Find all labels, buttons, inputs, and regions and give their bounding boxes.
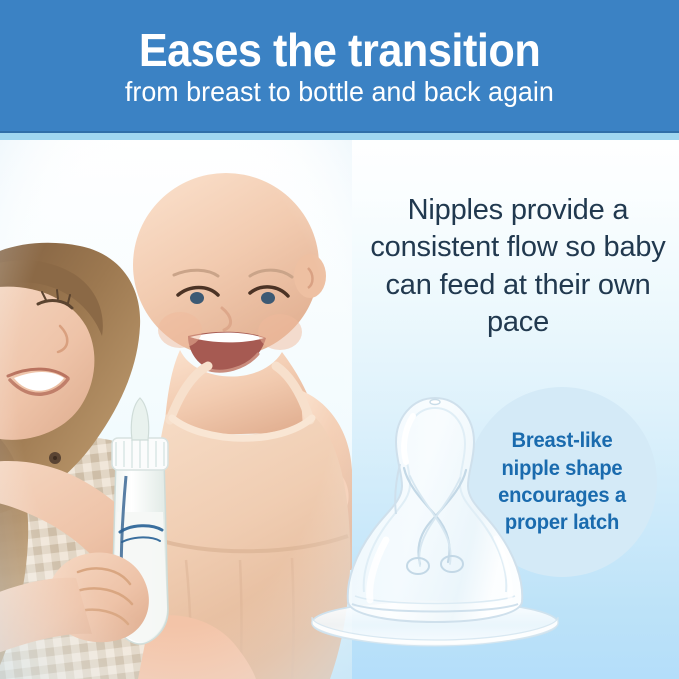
nipple-body — [348, 398, 523, 622]
header-banner: Eases the transition from breast to bott… — [0, 0, 679, 133]
nipple-illustration — [300, 390, 570, 655]
body-copy: Nipples provide a consistent flow so bab… — [362, 192, 674, 342]
banner-text-group: Eases the transition from breast to bott… — [0, 0, 679, 133]
banner-accent-strip — [0, 133, 679, 140]
product-nipple — [300, 390, 570, 655]
subheadline: from breast to bottle and back again — [125, 78, 554, 106]
headline: Eases the transition — [139, 27, 541, 73]
nipple-vent-hole — [430, 400, 440, 405]
product-marketing-image: Eases the transition from breast to bott… — [0, 0, 679, 679]
